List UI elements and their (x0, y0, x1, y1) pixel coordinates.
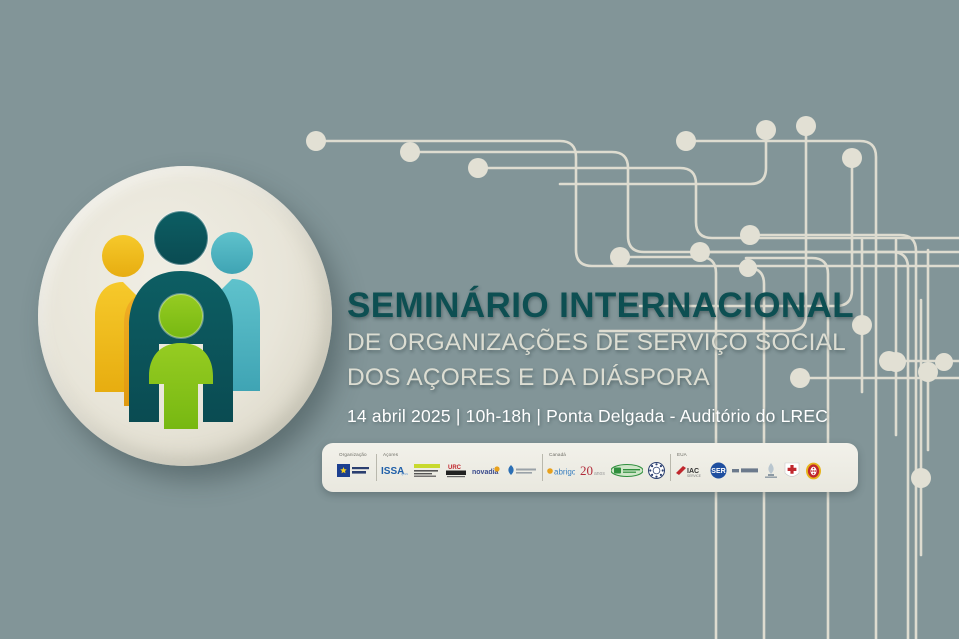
sponsor-group-organizao: Organização (332, 447, 376, 488)
issa-logo[interactable]: ISSA ipss (381, 461, 409, 480)
svg-text:ipss: ipss (401, 471, 408, 476)
svg-text:anos: anos (594, 471, 605, 477)
cruz-de-cristo-logo[interactable] (784, 461, 800, 480)
family-figures-icon (38, 166, 332, 466)
escudo-portugal-logo[interactable] (805, 461, 822, 480)
casa-do-benfica-logo[interactable] (611, 461, 643, 480)
pap-logo[interactable] (763, 461, 779, 480)
subtitle-line-2: DOS AÇORES E DA DIÁSPORA (347, 363, 947, 394)
novadia-logo[interactable]: novadia (472, 461, 500, 480)
sponsor-group-canad: Canadá abrigo 20 anos (542, 447, 670, 488)
sponsor-bar: Organização Açores ISSA ipss URC novadia… (322, 443, 858, 492)
governo-dos-acores-logo[interactable] (337, 461, 371, 480)
mapa-logo[interactable] (732, 461, 758, 480)
emblem (38, 166, 332, 466)
subtitle-line-1: DE ORGANIZAÇÕES DE SERVIÇO SOCIAL (347, 328, 947, 359)
sponsor-logo-row: abrigo 20 anos (547, 459, 665, 482)
abrigo-logo[interactable]: abrigo (547, 461, 575, 480)
santa-casa-logo[interactable] (414, 461, 440, 480)
page-title: SEMINÁRIO INTERNACIONAL (347, 288, 947, 324)
svg-text:SER: SER (711, 468, 725, 475)
anos-logo[interactable]: 20 anos (580, 461, 606, 480)
federacao-logo[interactable] (648, 461, 665, 480)
iac-logo[interactable]: IAC SERVICE (675, 461, 705, 480)
sponsor-group-eua: EUA IAC SERVICE SER (670, 447, 827, 488)
title-block: SEMINÁRIO INTERNACIONAL DE ORGANIZAÇÕES … (347, 288, 947, 427)
sponsor-group-label: Canadá (547, 453, 665, 458)
svg-text:abrigo: abrigo (554, 467, 575, 476)
svg-text:URC: URC (448, 465, 462, 471)
sponsor-logo-row: IAC SERVICE SER (675, 459, 822, 482)
sponsor-group-label: Organização (337, 453, 371, 458)
urc-logo[interactable]: URC (445, 461, 467, 480)
ser-logo[interactable]: SER (710, 461, 727, 480)
sponsor-group-label: Açores (381, 453, 537, 458)
svg-text:novadia: novadia (472, 469, 499, 476)
svg-text:20: 20 (580, 463, 593, 478)
sponsor-logo-row (337, 459, 371, 482)
misericordia-logo[interactable] (505, 461, 537, 480)
sponsor-group-aores: Açores ISSA ipss URC novadia (376, 447, 542, 488)
svg-text:SERVICE: SERVICE (687, 474, 701, 478)
sponsor-logo-row: ISSA ipss URC novadia (381, 459, 537, 482)
sponsor-group-label: EUA (675, 453, 822, 458)
event-details: 14 abril 2025 | 10h-18h | Ponta Delgada … (347, 406, 947, 427)
